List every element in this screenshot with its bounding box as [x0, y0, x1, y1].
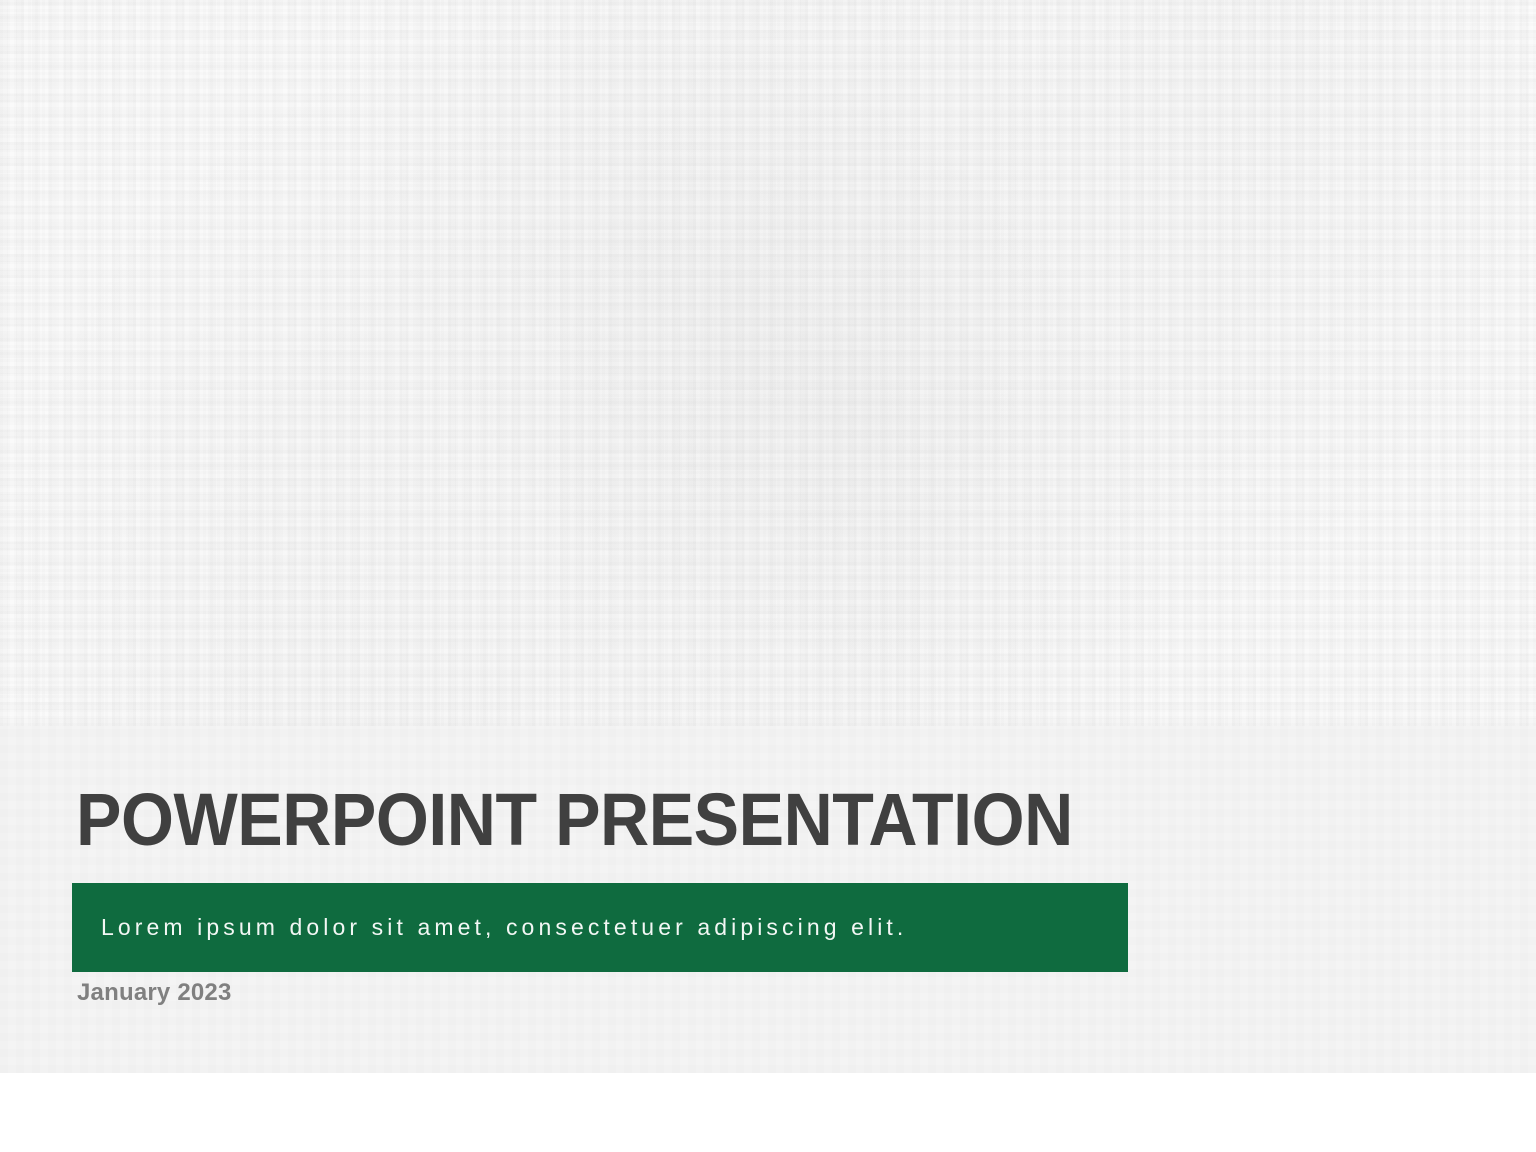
slide-subtitle: Lorem ipsum dolor sit amet, consectetuer… — [101, 914, 907, 941]
page-title: POWERPOINT PRESENTATION — [76, 783, 1180, 857]
subtitle-accent-bar: Lorem ipsum dolor sit amet, consectetuer… — [72, 883, 1128, 972]
presentation-slide: POWERPOINT PRESENTATION Lorem ipsum dolo… — [0, 0, 1536, 1152]
slide-date: January 2023 — [77, 979, 232, 1007]
slide-bottom-strip — [0, 1073, 1536, 1152]
slide-texture-panel — [0, 0, 1536, 726]
